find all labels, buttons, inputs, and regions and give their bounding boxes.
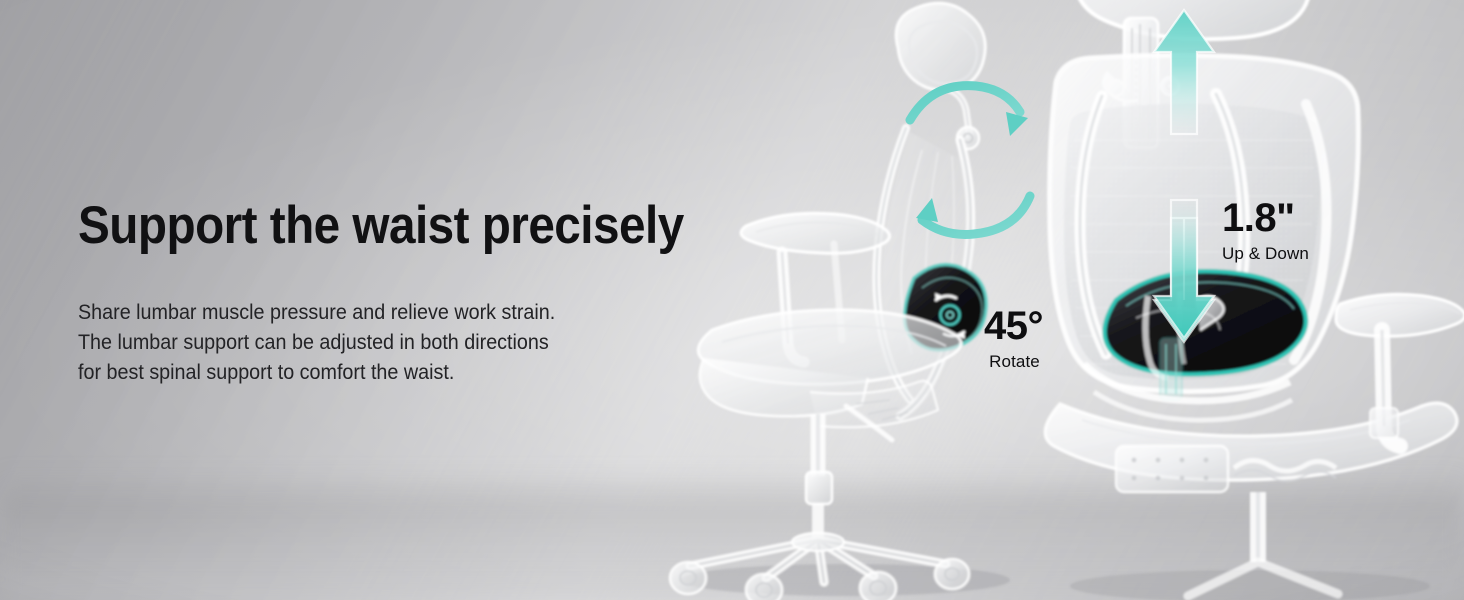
body-line-2: The lumbar support can be adjusted in bo…	[78, 328, 680, 358]
callout-rotate-value: 45°	[984, 306, 1043, 346]
callout-up-down-caption: Up & Down	[1222, 238, 1309, 264]
callout-up-down: 1.8" Up & Down	[1222, 198, 1309, 264]
body-copy: Share lumbar muscle pressure and relieve…	[78, 256, 680, 388]
callout-rotate: 45° Rotate	[984, 306, 1043, 372]
body-line-1: Share lumbar muscle pressure and relieve…	[78, 298, 680, 328]
callout-rotate-caption: Rotate	[984, 346, 1043, 372]
body-line-3: for best spinal support to comfort the w…	[78, 358, 680, 388]
copy-block: Support the waist precisely Share lumbar…	[78, 196, 718, 388]
product-feature-banner: Support the waist precisely Share lumbar…	[0, 0, 1464, 600]
page-title: Support the waist precisely	[78, 196, 654, 256]
callout-up-down-value: 1.8"	[1222, 198, 1309, 238]
